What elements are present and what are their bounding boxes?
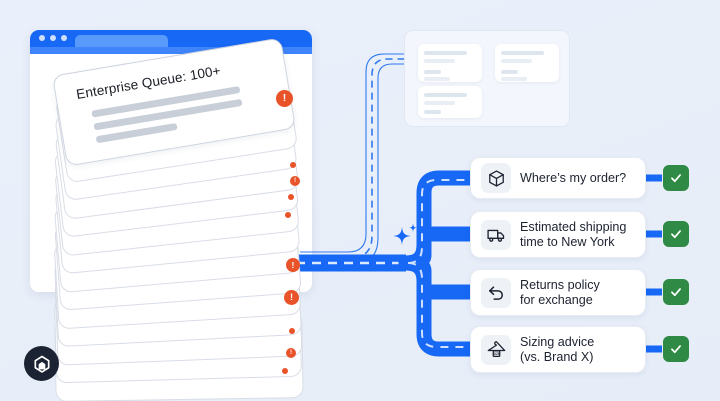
dot-green-icon xyxy=(61,35,67,41)
alert-badge xyxy=(289,328,295,334)
answer-card-wheres-my-order[interactable]: Where’s my order? xyxy=(470,157,646,199)
return-arrow-icon xyxy=(481,278,511,308)
alert-badge: ! xyxy=(286,258,300,272)
skeleton-card xyxy=(495,44,559,82)
alert-badge xyxy=(282,368,288,374)
answer-card-label: Sizing advice(vs. Brand X) xyxy=(520,335,594,364)
skeleton-results-panel xyxy=(404,30,570,127)
browser-tab[interactable] xyxy=(75,35,168,47)
alert-badge xyxy=(288,194,294,200)
traffic-light-dots xyxy=(39,35,67,41)
answer-card-sizing-advice[interactable]: SIZE Sizing advice(vs. Brand X) xyxy=(470,326,646,373)
alert-badge xyxy=(285,212,291,218)
status-check-badge xyxy=(663,165,689,191)
answer-card-label: Estimated shippingtime to New York xyxy=(520,220,626,249)
answer-card-label: Returns policyfor exchange xyxy=(520,278,600,307)
dot-yellow-icon xyxy=(50,35,56,41)
status-check-badge xyxy=(663,279,689,305)
alert-badge: ! xyxy=(284,290,299,305)
answer-card-label: Where’s my order? xyxy=(520,171,626,186)
skeleton-card xyxy=(418,44,482,82)
ai-sparkle-icon xyxy=(391,222,421,257)
brand-logo xyxy=(24,346,59,381)
alert-badge: ! xyxy=(286,348,296,358)
delivery-truck-icon xyxy=(481,220,511,250)
dot-red-icon xyxy=(39,35,45,41)
alert-badge: ! xyxy=(290,176,300,186)
ticket-stack: Enterprise Queue: 100+!!!!! xyxy=(62,54,322,354)
answer-card-estimated-shipping[interactable]: Estimated shippingtime to New York xyxy=(470,211,646,258)
answer-card-returns-policy[interactable]: Returns policyfor exchange xyxy=(470,269,646,316)
status-check-badge xyxy=(663,221,689,247)
alert-badge xyxy=(290,162,296,168)
svg-text:SIZE: SIZE xyxy=(493,352,500,356)
status-check-badge xyxy=(663,336,689,362)
illustration-scene: Enterprise Queue: 100+!!!!! xyxy=(0,0,720,401)
skeleton-card xyxy=(418,86,482,118)
hanger-size-tag-icon: SIZE xyxy=(481,335,511,365)
alert-badge: ! xyxy=(276,90,293,107)
package-box-icon xyxy=(481,163,511,193)
